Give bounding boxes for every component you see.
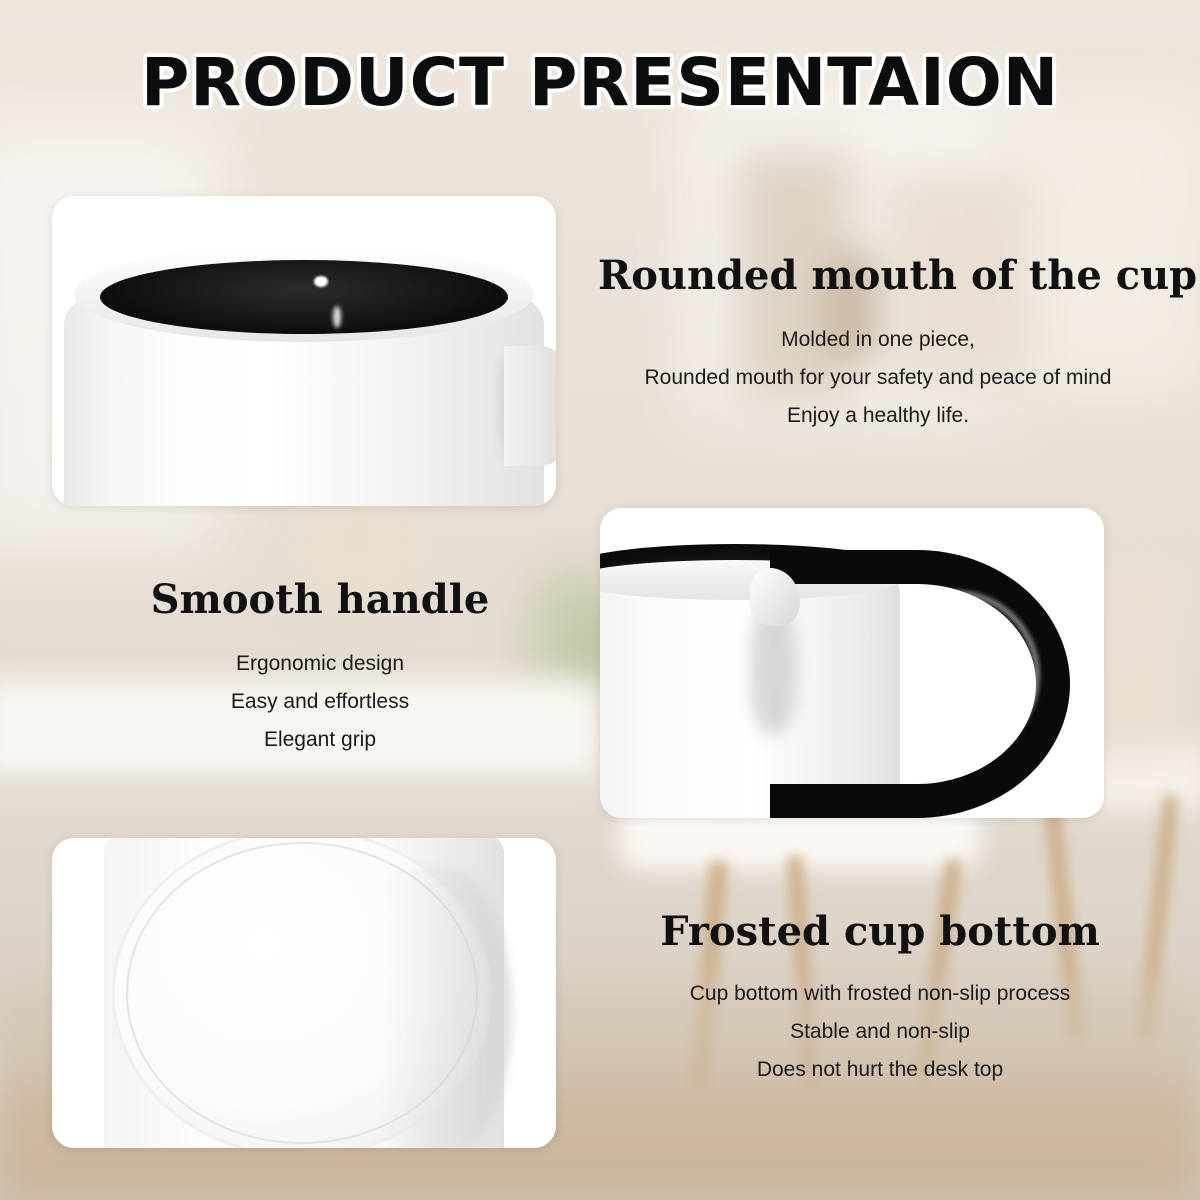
highlight-streak	[333, 306, 341, 328]
section-heading: Smooth handle	[110, 576, 530, 623]
product-presentation-page: PRODUCT PRESENTAION Rounded mouth of the…	[0, 0, 1200, 1200]
section-line: Elegant grip	[110, 721, 530, 759]
section-line: Stable and non-slip	[600, 1013, 1160, 1051]
table-edge-shape	[0, 775, 600, 805]
product-photo-frosted-bottom	[52, 838, 556, 1148]
section-line: Rounded mouth for your safety and peace …	[598, 359, 1158, 397]
highlight-spot	[314, 276, 328, 287]
section-line: Does not hurt the desk top	[600, 1051, 1160, 1089]
section-text-rounded-mouth: Rounded mouth of the cup Molded in one p…	[598, 252, 1158, 435]
section-line: Cup bottom with frosted non-slip process	[600, 975, 1160, 1013]
section-line: Molded in one piece,	[598, 321, 1158, 359]
cup-interior-black-inner	[100, 260, 508, 334]
bottom-shading	[382, 868, 512, 1148]
product-photo-rounded-mouth	[52, 196, 556, 506]
section-text-smooth-handle: Smooth handle Ergonomic design Easy and …	[110, 576, 530, 759]
section-heading: Rounded mouth of the cup	[598, 252, 1158, 299]
section-line: Ergonomic design	[110, 645, 530, 683]
section-line: Enjoy a healthy life.	[598, 397, 1158, 435]
section-text-frosted-bottom: Frosted cup bottom Cup bottom with frost…	[600, 908, 1160, 1089]
section-heading: Frosted cup bottom	[600, 908, 1160, 955]
section-line: Easy and effortless	[110, 683, 530, 721]
page-title: PRODUCT PRESENTAION	[0, 44, 1200, 121]
handle-edge	[504, 346, 556, 466]
product-photo-smooth-handle	[600, 508, 1104, 818]
